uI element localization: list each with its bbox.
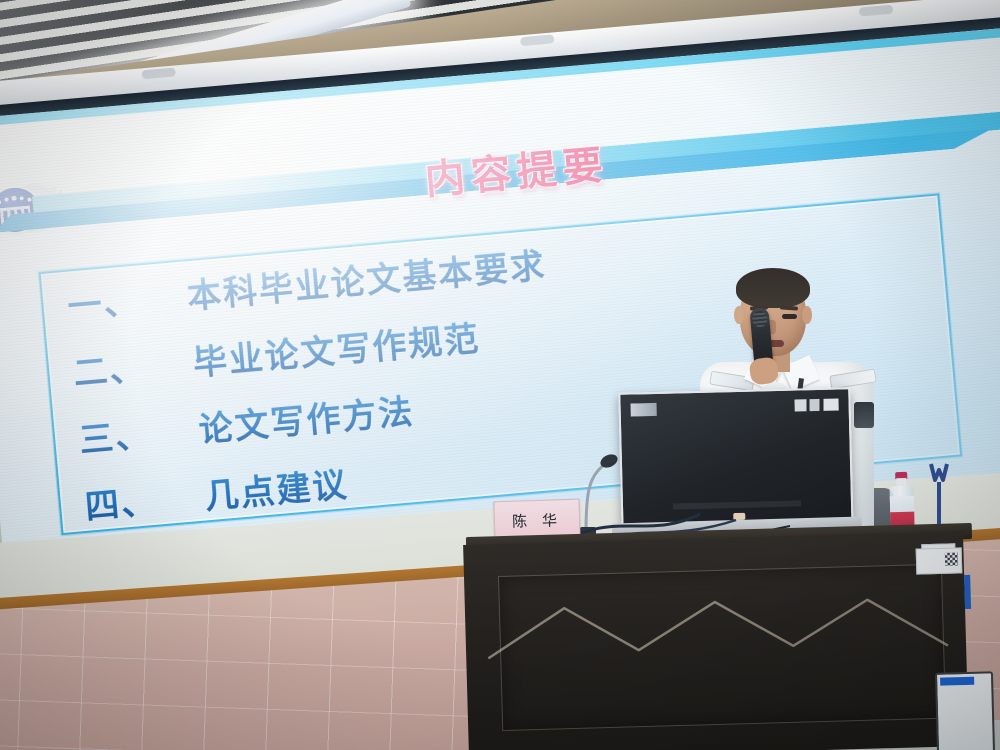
leaflet-holder [935, 671, 995, 750]
podium-blue-strip [964, 575, 971, 609]
bottle-label-upper [890, 496, 914, 513]
laptop-sticker [631, 403, 657, 417]
screen-bracket [520, 34, 555, 46]
bullet-number: 一、 [65, 269, 189, 328]
info-card [916, 547, 963, 574]
bullet-number: 二、 [71, 336, 195, 395]
bullet-text: 论文写作方法 [197, 384, 416, 452]
podium [463, 531, 969, 750]
leaflet-band [940, 677, 974, 686]
qr-code-icon [945, 552, 958, 565]
bullet-text: 毕业论文写作规范 [191, 311, 482, 385]
ear [802, 306, 812, 324]
bullet-number: 三、 [77, 403, 201, 462]
bullet-number: 四、 [83, 470, 207, 529]
bullet-text: 几点建议 [202, 457, 350, 518]
laptop-sticker [794, 398, 838, 411]
hair [736, 268, 810, 308]
arm-patch-icon [854, 402, 874, 428]
eye [782, 314, 797, 319]
screen-bracket [141, 67, 176, 79]
ear [734, 306, 744, 324]
screen-bracket [859, 5, 894, 17]
lecture-hall-photo: 内容提要 一、 本科毕业论文基本要求 二、 毕业论文写作规范 三、 论 [0, 0, 1000, 750]
